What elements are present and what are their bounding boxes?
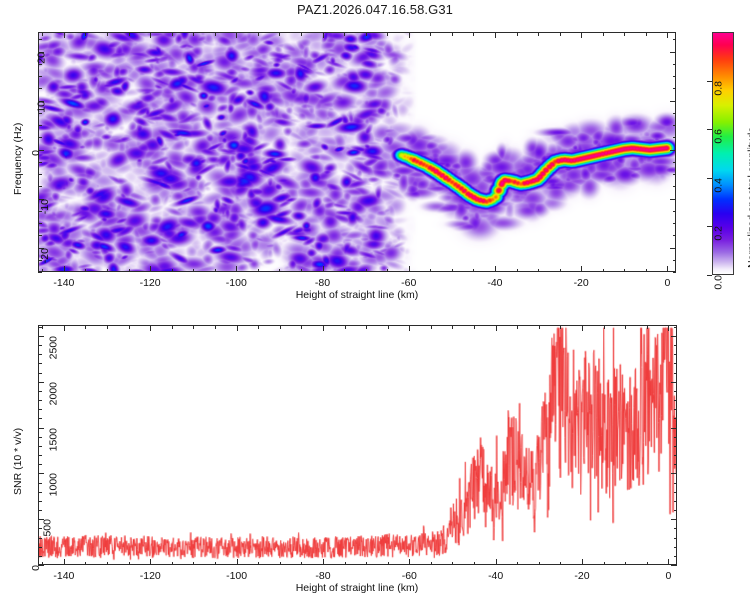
- colorbar-tick-label: 0.6: [713, 129, 725, 144]
- colorbar: 0.00.20.40.60.8: [712, 32, 734, 275]
- snr-xlabel: Height of straight line (km): [296, 582, 419, 594]
- y-tick-label: -10: [39, 199, 51, 214]
- figure-root: PAZ1.2026.047.16.58.G31 -140-120-100-80-…: [0, 0, 750, 600]
- spectrogram-ylabel: Frequency (Hz): [12, 123, 24, 195]
- x-tick-label: 0: [665, 570, 671, 582]
- y-tick-label: 2000: [47, 382, 59, 405]
- y-tick-label: 1500: [47, 428, 59, 451]
- colorbar-tick-label: 0.2: [713, 226, 725, 241]
- colorbar-tick: [707, 226, 712, 227]
- x-tick-label: -40: [487, 277, 502, 289]
- colorbar-tick: [707, 275, 712, 276]
- colorbar-tick: [707, 178, 712, 179]
- x-tick-label: 0: [664, 277, 670, 289]
- colorbar-title: Normalized spectral amplitude: [746, 127, 750, 268]
- x-tick-label: -120: [140, 570, 161, 582]
- figure-title: PAZ1.2026.047.16.58.G31: [0, 2, 750, 17]
- x-tick-label: -40: [488, 570, 503, 582]
- x-tick-label: -140: [53, 570, 74, 582]
- y-tick-label: -20: [39, 248, 51, 263]
- x-tick-label: -20: [574, 277, 589, 289]
- colorbar-tick-label: 0.8: [713, 81, 725, 96]
- spectrogram-canvas: [39, 33, 675, 271]
- spectrogram-xlabel: Height of straight line (km): [296, 289, 419, 301]
- colorbar-tick-label: 0.0: [713, 275, 725, 290]
- colorbar-tick-label: 0.4: [713, 178, 725, 193]
- y-tick-label: 1000: [47, 473, 59, 496]
- y-tick-label: 2500: [47, 336, 59, 359]
- colorbar-tick: [707, 129, 712, 130]
- x-tick-label: -80: [315, 277, 330, 289]
- y-tick-label: 20: [36, 52, 48, 64]
- y-tick-label: 10: [36, 101, 48, 113]
- colorbar-tick: [707, 81, 712, 82]
- x-tick-label: -120: [140, 277, 161, 289]
- x-tick-label: -100: [226, 277, 247, 289]
- x-tick-label: -80: [315, 570, 330, 582]
- x-tick-label: -60: [401, 277, 416, 289]
- snr-canvas: [39, 326, 676, 564]
- y-tick-label: 0: [30, 565, 42, 571]
- x-tick-label: -60: [402, 570, 417, 582]
- y-tick-label: 500: [42, 519, 54, 537]
- x-tick-label: -20: [574, 570, 589, 582]
- x-tick-label: -100: [226, 570, 247, 582]
- x-tick-label: -140: [53, 277, 74, 289]
- y-tick-label: 0: [30, 150, 42, 156]
- snr-panel: [38, 325, 677, 565]
- snr-ylabel: SNR (10 * v/v): [12, 428, 24, 495]
- spectrogram-panel: [38, 32, 676, 272]
